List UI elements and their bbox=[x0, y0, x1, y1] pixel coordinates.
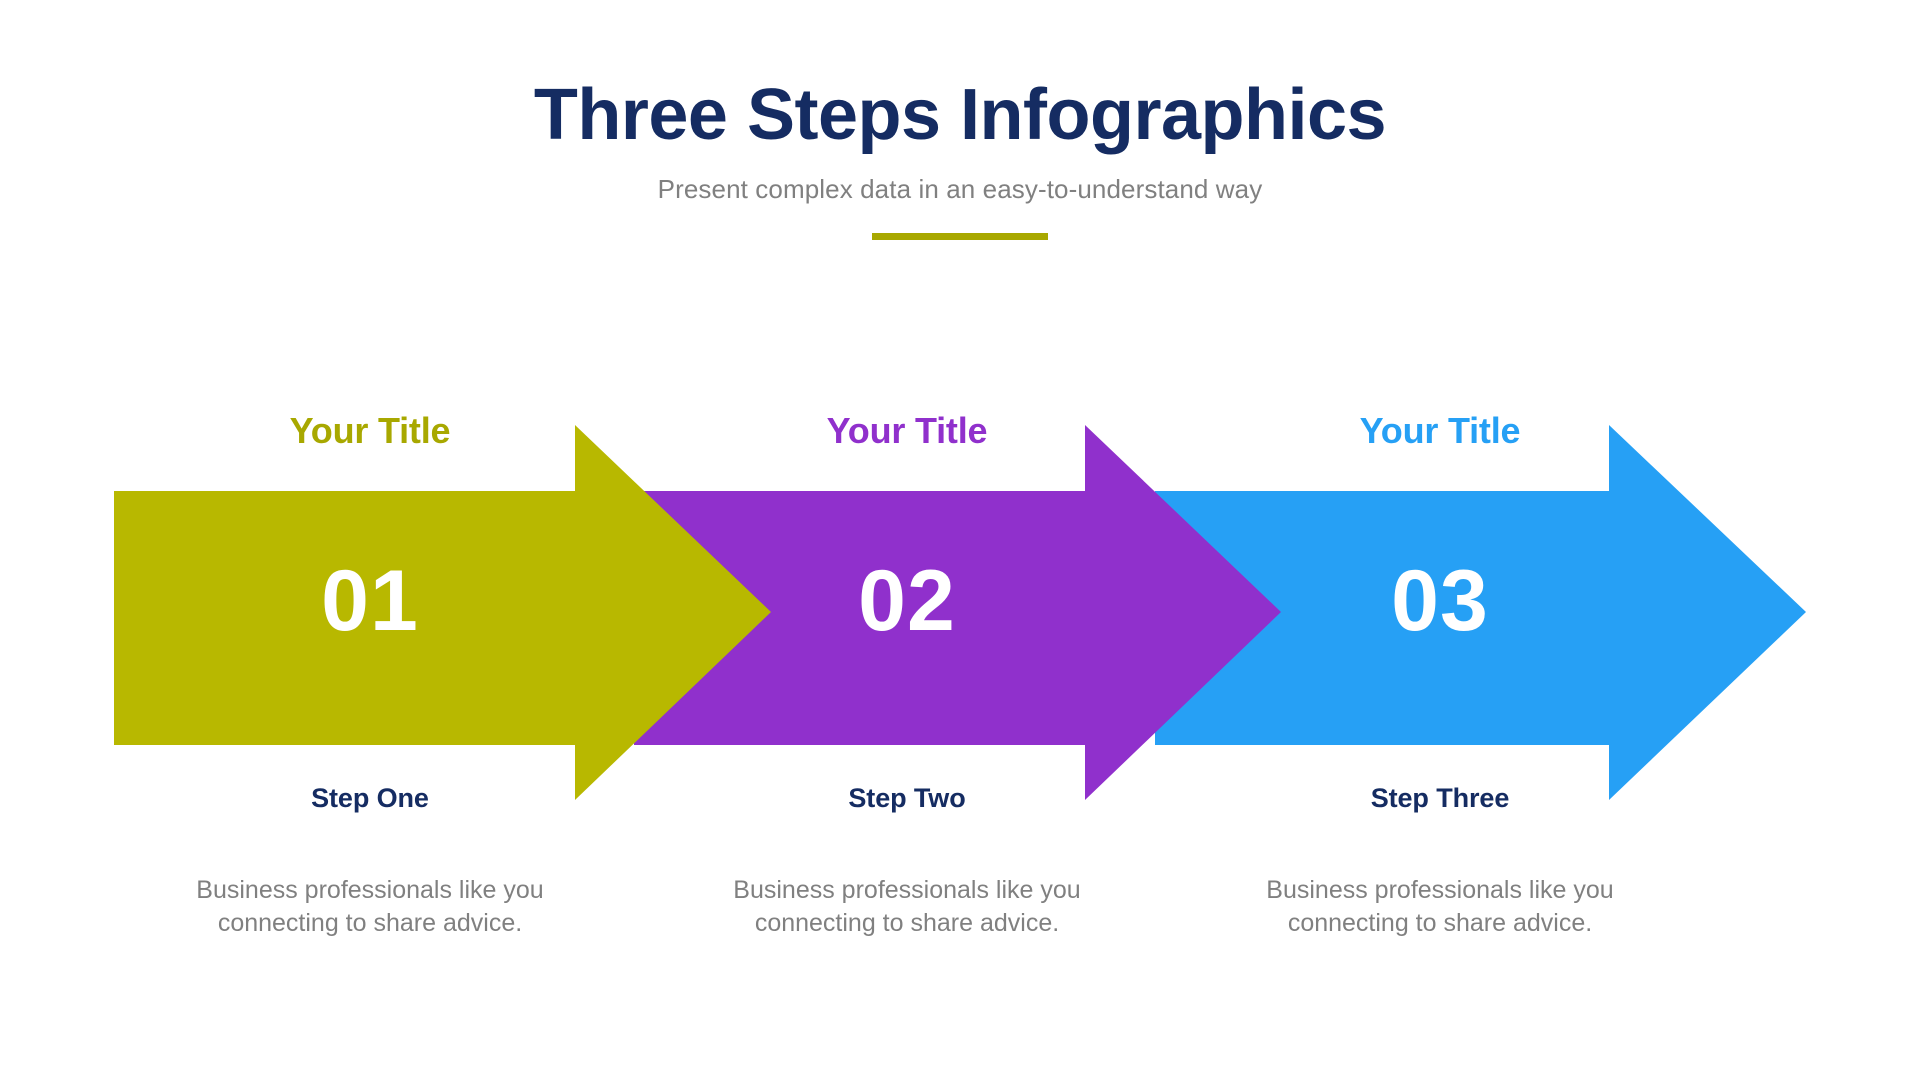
step-3-label: Step Three bbox=[1230, 783, 1650, 814]
step-3-description-line-1: Business professionals like you bbox=[1230, 874, 1650, 907]
step-2-description-line-1: Business professionals like you bbox=[697, 874, 1117, 907]
step-2-description-line-2: connecting to share advice. bbox=[697, 907, 1117, 940]
step-2-description: Business professionals like you connecti… bbox=[697, 874, 1117, 940]
step-1-title: Your Title bbox=[160, 410, 580, 452]
step-3-title: Your Title bbox=[1230, 410, 1650, 452]
step-3-description-line-2: connecting to share advice. bbox=[1230, 907, 1650, 940]
step-1-description-line-2: connecting to share advice. bbox=[160, 907, 580, 940]
step-1-description-line-1: Business professionals like you bbox=[160, 874, 580, 907]
step-1-number: 01 bbox=[160, 558, 580, 644]
step-2-title: Your Title bbox=[697, 410, 1117, 452]
step-3-description: Business professionals like you connecti… bbox=[1230, 874, 1650, 940]
header: Three Steps Infographics Present complex… bbox=[0, 78, 1920, 240]
step-2-number: 02 bbox=[697, 558, 1117, 644]
step-1-description: Business professionals like you connecti… bbox=[160, 874, 580, 940]
step-2-label: Step Two bbox=[697, 783, 1117, 814]
slide-canvas: Three Steps Infographics Present complex… bbox=[0, 0, 1920, 1080]
step-1-label: Step One bbox=[160, 783, 580, 814]
step-3-number: 03 bbox=[1230, 558, 1650, 644]
page-title: Three Steps Infographics bbox=[0, 78, 1920, 154]
title-divider bbox=[872, 233, 1048, 240]
page-subtitle: Present complex data in an easy-to-under… bbox=[0, 154, 1920, 205]
